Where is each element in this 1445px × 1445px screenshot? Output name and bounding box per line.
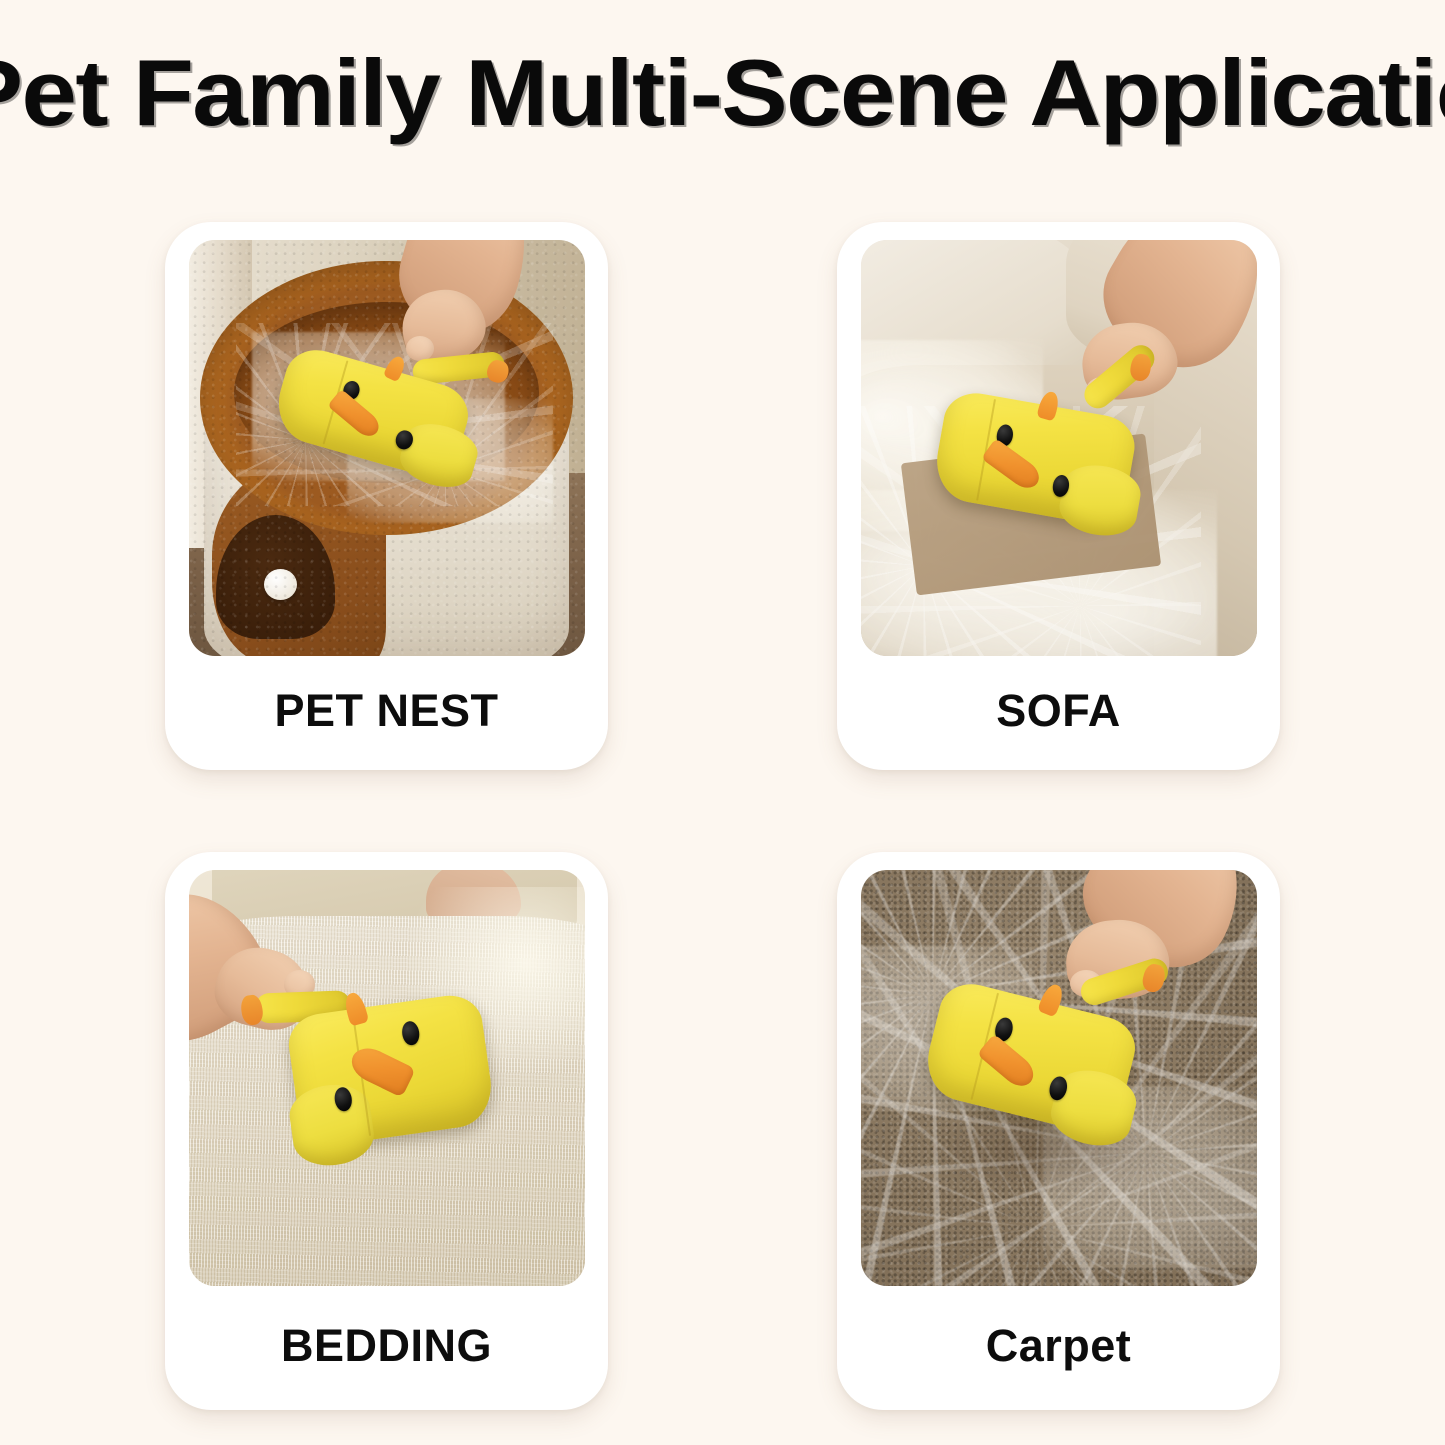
scene-card-sofa[interactable]: SOFA	[837, 222, 1280, 770]
scene-photo-pet-nest	[189, 240, 585, 656]
scene-card-bedding[interactable]: BEDDING	[165, 852, 608, 1410]
sofa-illustration	[861, 240, 1257, 656]
scene-card-carpet[interactable]: Carpet	[837, 852, 1280, 1410]
scene-card-grid: PET NEST	[165, 222, 1280, 1410]
carpet-illustration	[861, 870, 1257, 1286]
page-title: Pet Family Multi-Scene Application	[0, 46, 1445, 140]
card-label-sofa: SOFA	[996, 656, 1121, 770]
pet-nest-illustration	[189, 240, 585, 656]
card-label-pet-nest: PET NEST	[274, 656, 498, 770]
card-label-carpet: Carpet	[986, 1286, 1132, 1410]
duck-lint-roller	[247, 954, 510, 1185]
bedding-illustration	[189, 870, 585, 1286]
scene-photo-carpet	[861, 870, 1257, 1286]
card-label-bedding: BEDDING	[281, 1286, 492, 1410]
scene-card-pet-nest[interactable]: PET NEST	[165, 222, 608, 770]
scene-photo-sofa	[861, 240, 1257, 656]
scene-photo-bedding	[189, 870, 585, 1286]
